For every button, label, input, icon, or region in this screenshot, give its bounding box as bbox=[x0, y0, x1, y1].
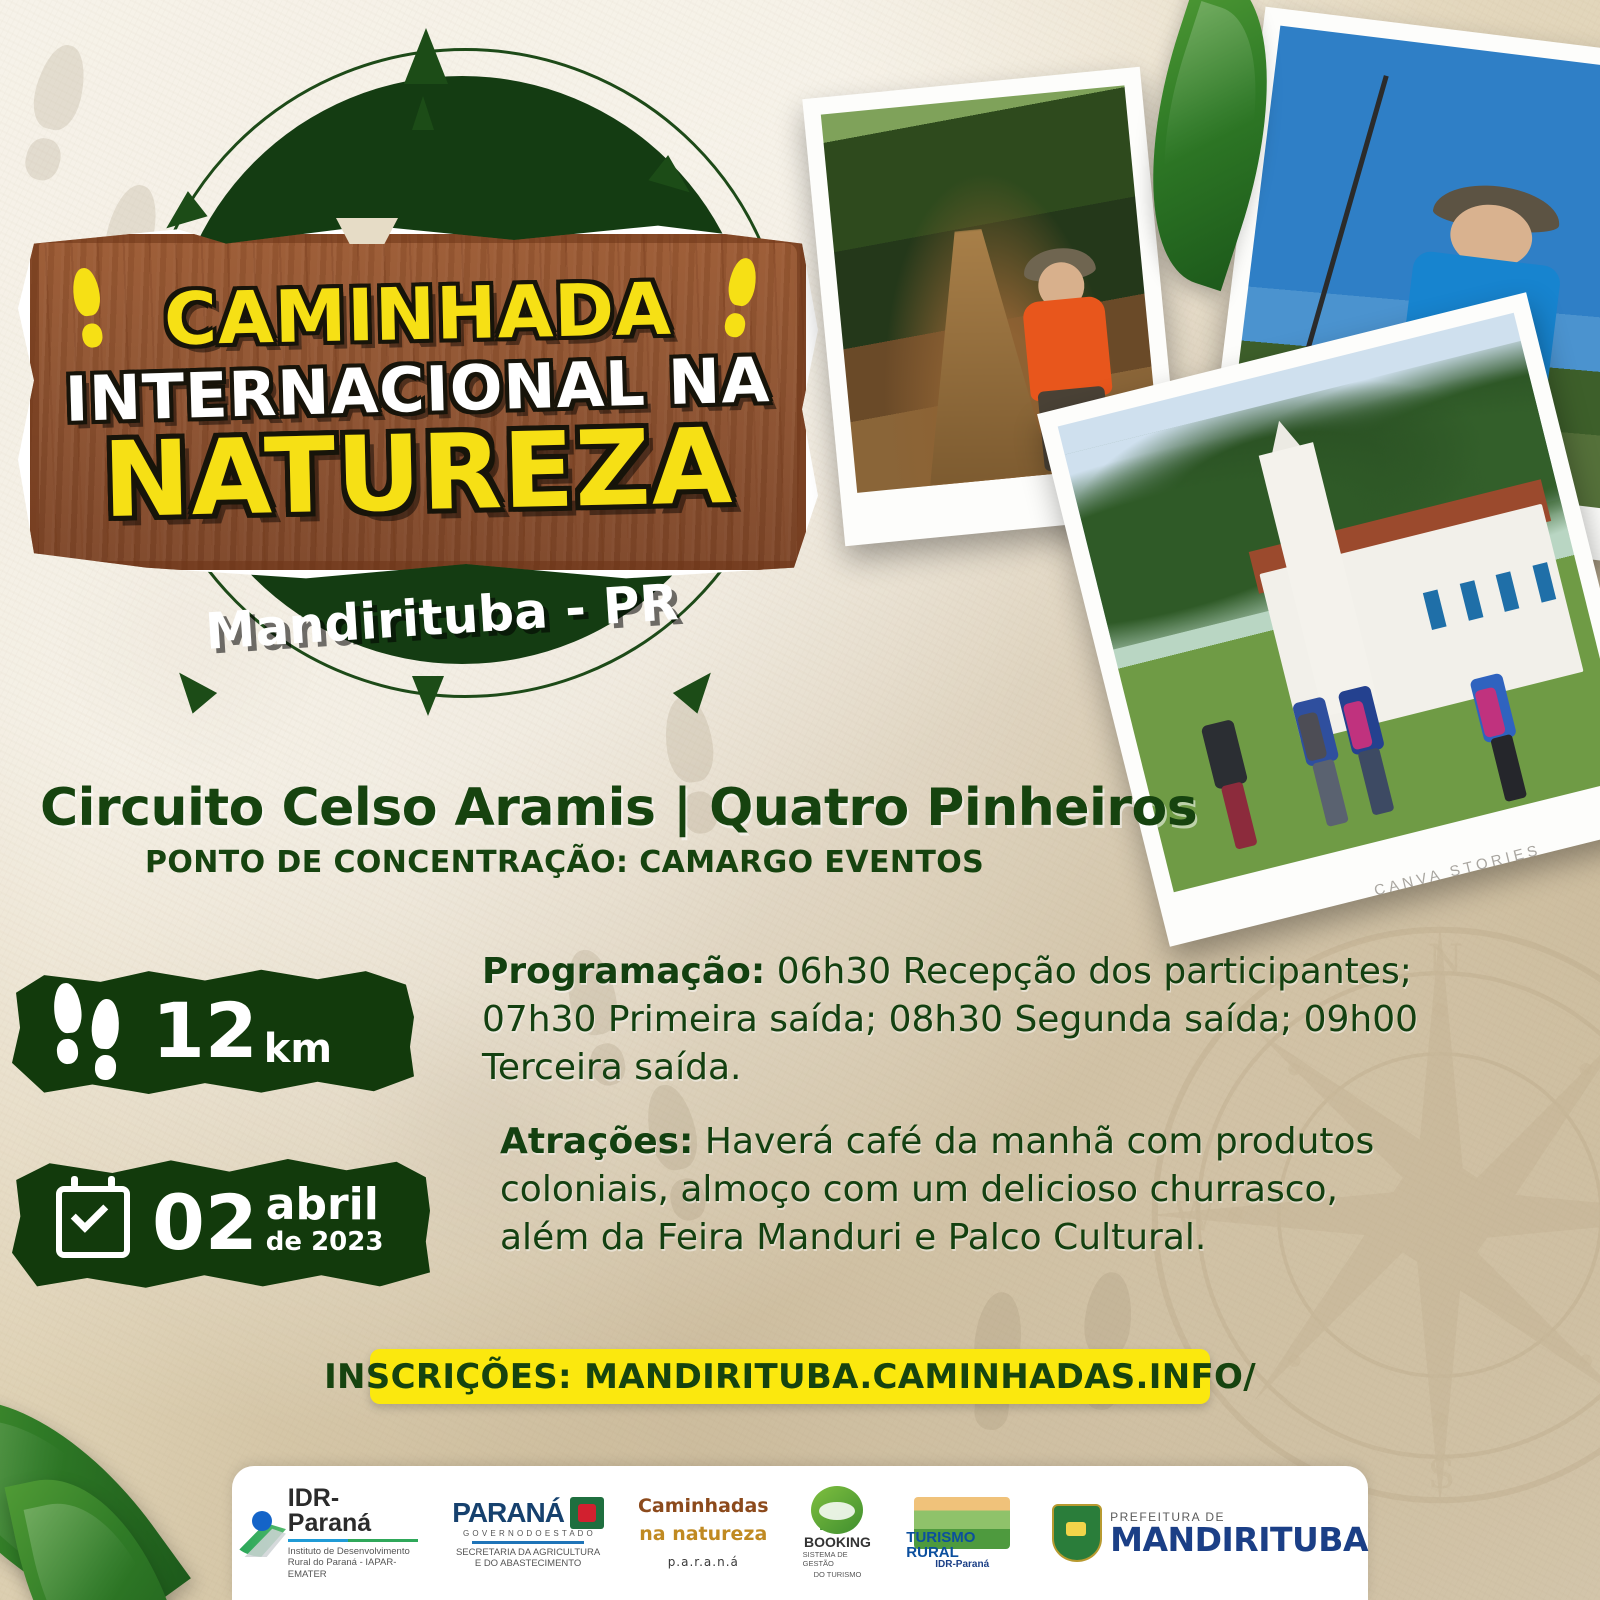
logo-eco-sub0: BOOKING bbox=[804, 1535, 871, 1549]
logo-turismo-rural: TURISMO RURAL IDR-Paraná bbox=[906, 1497, 1018, 1570]
logo-idr-parana: IDR-Paraná Instituto de Desenvolvimento … bbox=[232, 1486, 418, 1580]
distance-unit: km bbox=[264, 1029, 332, 1069]
logo-eco-sub2: DO TURISMO bbox=[814, 1571, 862, 1580]
date-month: abril bbox=[266, 1183, 379, 1227]
meeting-point-label: PONTO DE CONCENTRAÇÃO: CAMARGO EVENTOS bbox=[145, 845, 1105, 880]
date-day: 02 bbox=[152, 1185, 258, 1261]
logo-prefeitura-mandirituba: PREFEITURA DE MANDIRITUBA bbox=[1052, 1504, 1368, 1562]
registration-url[interactable]: INSCRIÇÕES: MANDIRITUBA.CAMINHADAS.INFO/ bbox=[324, 1357, 1256, 1397]
walker-figure bbox=[1200, 719, 1262, 848]
logo-parana-sub1: SECRETARIA DA AGRICULTURA bbox=[456, 1547, 600, 1558]
title-line-1: CAMINHADA bbox=[163, 274, 672, 355]
logo-parana-title: PARANÁ bbox=[452, 1499, 564, 1527]
parana-flag-icon bbox=[570, 1497, 604, 1529]
logo-eco-booking: ECO BOOKING SISTEMA DE GESTÃO DO TURISMO bbox=[803, 1486, 873, 1580]
logo-caminhadas-title: Caminhadas bbox=[638, 1497, 769, 1516]
logo-caminhadas-sub1: na natureza bbox=[639, 1524, 767, 1545]
shirt-shape bbox=[1200, 719, 1248, 790]
logo-turismo-title: TURISMO RURAL bbox=[906, 1530, 1018, 1560]
circuit-title: Circuito Celso Aramis | Quatro Pinheiros bbox=[40, 778, 1190, 838]
date-badge: 02 abril de 2023 bbox=[12, 1152, 430, 1292]
arrow-marker-south bbox=[412, 676, 444, 716]
distance-value: 12 bbox=[152, 993, 258, 1069]
logo-turismo-sub1: IDR-Paraná bbox=[935, 1560, 989, 1570]
logo-idr-sub2: Rural do Paraná - IAPAR-EMATER bbox=[288, 1557, 418, 1579]
mandirituba-crest-icon bbox=[1052, 1504, 1102, 1562]
logo-idr-sub1: Instituto de Desenvolvimento bbox=[288, 1546, 418, 1557]
calendar-check-icon bbox=[56, 1186, 130, 1258]
schedule-label: Programação: bbox=[482, 951, 765, 992]
attractions-label: Atrações: bbox=[500, 1121, 693, 1162]
pants-shape bbox=[1221, 781, 1258, 849]
arrow-marker-small-north bbox=[412, 96, 434, 130]
distance-badge: 12 km bbox=[12, 963, 414, 1098]
walker-figure bbox=[1470, 672, 1532, 801]
pants-shape bbox=[1357, 747, 1394, 815]
pants-shape bbox=[1490, 734, 1527, 802]
title-line-3: NATUREZA bbox=[102, 416, 734, 532]
idr-leaf-icon bbox=[232, 1509, 280, 1557]
arrow-marker-north bbox=[404, 28, 448, 84]
date-year: de 2023 bbox=[266, 1229, 384, 1255]
logo-caminhadas-natureza: Caminhadas na natureza p.a.r.a.n.á bbox=[638, 1497, 769, 1570]
logo-parana-governo: PARANÁ G O V E R N O D O E S T A D O SEC… bbox=[452, 1497, 604, 1569]
logo-idr-title: IDR-Paraná bbox=[288, 1486, 418, 1536]
registration-banner[interactable]: INSCRIÇÕES: MANDIRITUBA.CAMINHADAS.INFO/ bbox=[370, 1349, 1210, 1404]
schedule-paragraph: Programação: 06h30 Recepção dos particip… bbox=[482, 948, 1432, 1093]
svg-text:N: N bbox=[1428, 936, 1463, 983]
svg-text:S: S bbox=[1428, 1451, 1456, 1498]
wooden-sign: CAMINHADA INTERNACIONAL NA NATUREZA bbox=[18, 222, 818, 582]
poster-canvas: NE SW Mandirituba - PR CAMINHADA INTERNA… bbox=[0, 0, 1600, 1600]
sponsor-logo-bar: IDR-Paraná Instituto de Desenvolvimento … bbox=[232, 1466, 1368, 1600]
logo-caminhadas-sub2: p.a.r.a.n.á bbox=[668, 1555, 739, 1569]
footprints-icon bbox=[54, 983, 130, 1079]
check-mark bbox=[71, 1195, 108, 1232]
logo-prefeitura-city: MANDIRITUBA bbox=[1110, 1523, 1368, 1556]
logo-parana-sub0: G O V E R N O D O E S T A D O bbox=[463, 1529, 593, 1538]
attractions-paragraph: Atrações: Haverá café da manhã com produ… bbox=[500, 1118, 1435, 1263]
logo-parana-sub2: E DO ABASTECIMENTO bbox=[475, 1558, 581, 1569]
logo-eco-sub1: SISTEMA DE GESTÃO bbox=[803, 1551, 873, 1569]
pants-shape bbox=[1312, 758, 1349, 826]
